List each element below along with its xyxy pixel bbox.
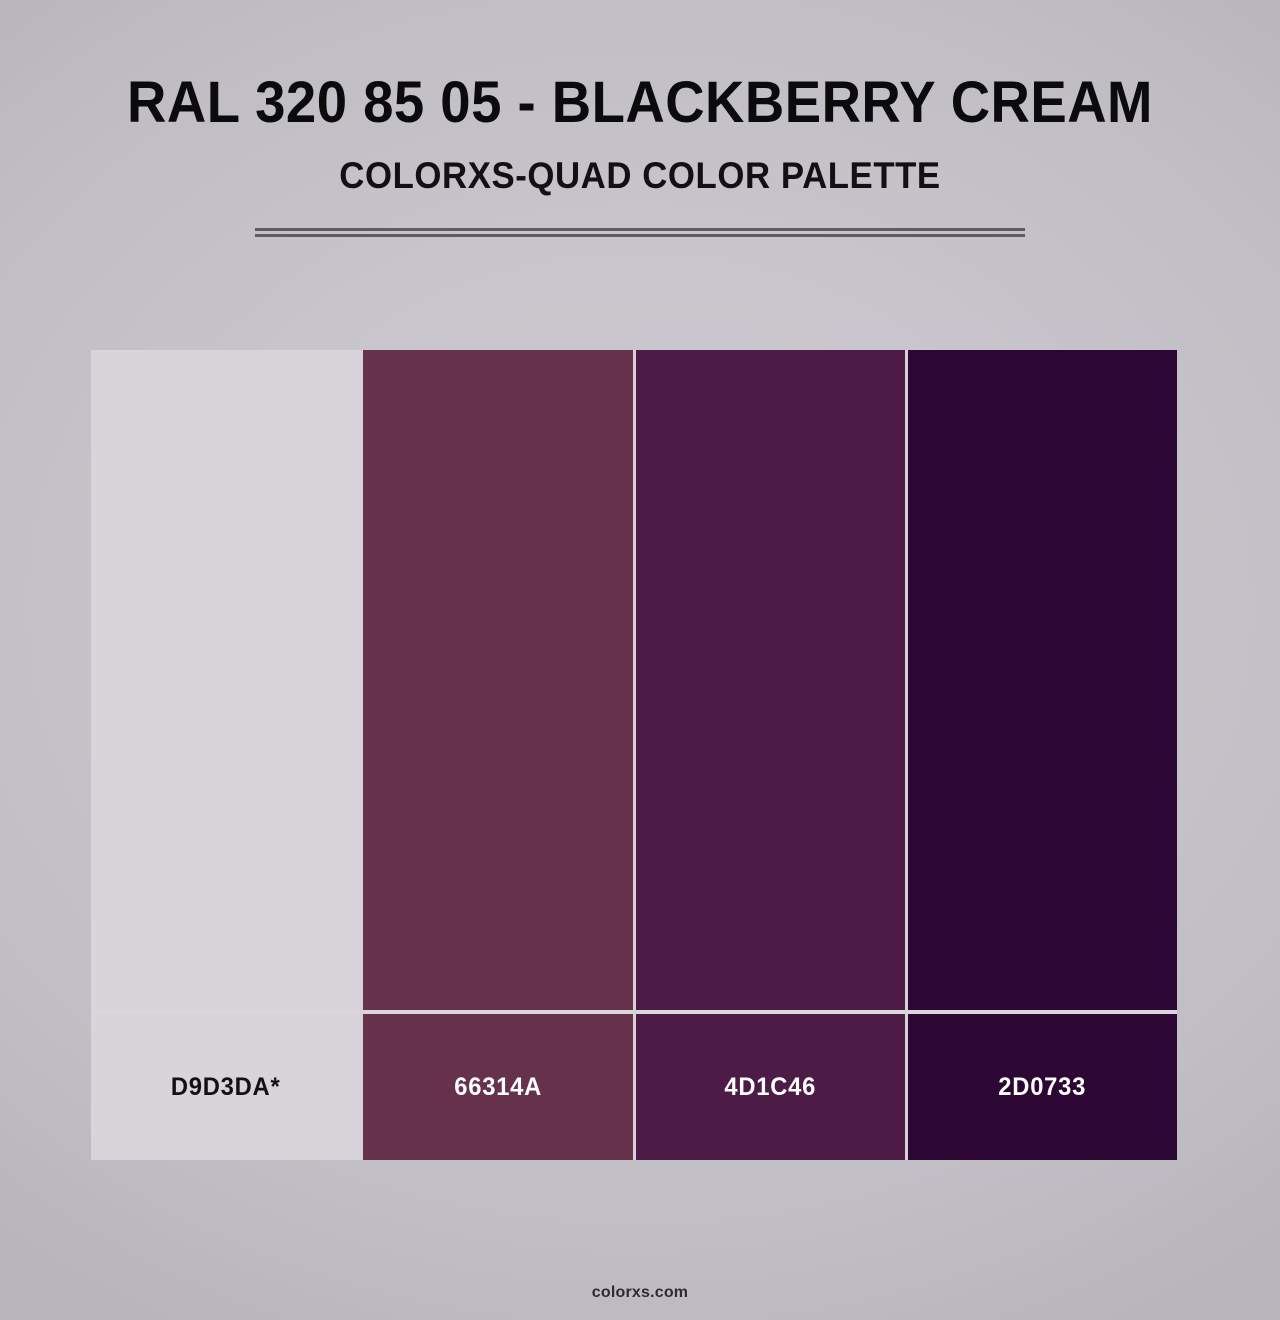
color-palette: D9D3DA*66314A4D1C462D0733 <box>91 350 1177 1160</box>
swatch-column[interactable]: 66314A <box>363 350 635 1160</box>
swatch-column[interactable]: 4D1C46 <box>636 350 908 1160</box>
swatch-hex-label: 2D0733 <box>998 1073 1086 1102</box>
swatch-column[interactable]: D9D3DA* <box>91 350 363 1160</box>
page-subtitle: COLORXS-QUAD COLOR PALETTE <box>38 134 1241 196</box>
header-divider <box>255 228 1025 237</box>
page-title: RAL 320 85 05 - BLACKBERRY CREAM <box>38 0 1241 134</box>
divider-rule-bottom <box>255 234 1025 237</box>
swatch-label-strip: 2D0733 <box>908 1014 1177 1160</box>
swatch-color-chip[interactable] <box>636 350 905 1010</box>
swatch-label-strip: 4D1C46 <box>636 1014 905 1160</box>
swatch-color-chip[interactable] <box>363 350 632 1010</box>
footer-site-label: colorxs.com <box>592 1284 688 1301</box>
swatch-hex-label: 4D1C46 <box>724 1073 816 1102</box>
swatch-hex-label: 66314A <box>454 1073 542 1102</box>
swatch-label-strip: 66314A <box>363 1014 632 1160</box>
swatch-color-chip[interactable] <box>908 350 1177 1010</box>
swatch-column[interactable]: 2D0733 <box>908 350 1177 1160</box>
page-header: RAL 320 85 05 - BLACKBERRY CREAM COLORXS… <box>0 0 1280 196</box>
swatch-color-chip[interactable] <box>91 350 360 1010</box>
swatch-label-strip: D9D3DA* <box>91 1014 360 1160</box>
swatch-hex-label: D9D3DA* <box>171 1073 281 1102</box>
page-footer: colorxs.com <box>0 1284 1280 1302</box>
divider-rule-top <box>255 228 1025 231</box>
